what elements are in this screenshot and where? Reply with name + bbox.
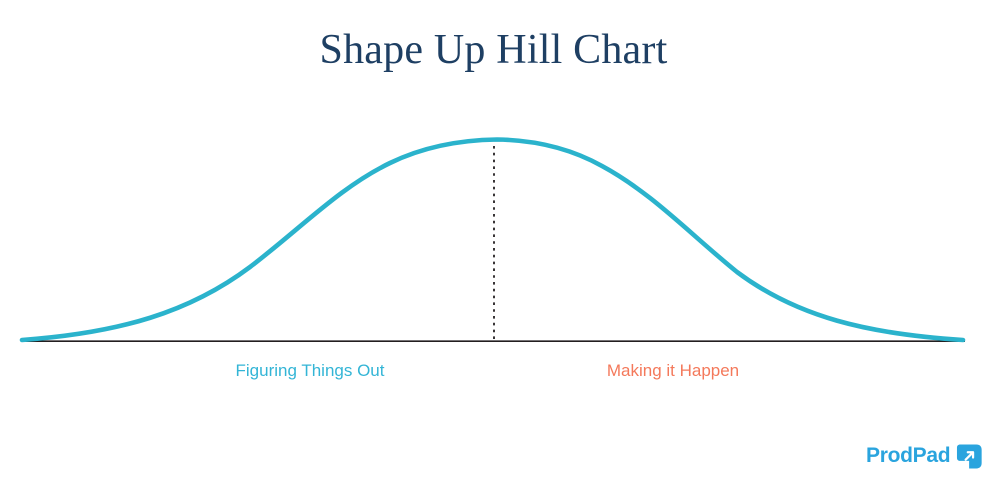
prodpad-wordmark: ProdPad xyxy=(866,444,950,468)
prodpad-arrow-icon xyxy=(956,443,983,470)
hill-chart-page: Shape Up Hill Chart Figuring Things Out … xyxy=(0,0,987,488)
phase-label-making-it-happen: Making it Happen xyxy=(523,360,823,382)
hill-curve xyxy=(22,140,963,341)
hill-chart-figure xyxy=(0,0,987,488)
hill-chart-svg xyxy=(0,0,987,488)
phase-label-figuring-things-out: Figuring Things Out xyxy=(160,360,460,382)
prodpad-logo[interactable]: ProdPad xyxy=(866,440,983,472)
